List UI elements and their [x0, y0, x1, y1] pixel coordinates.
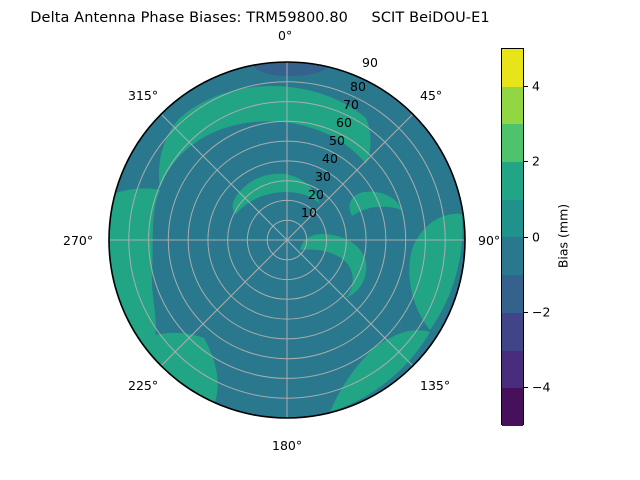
colorbar-tick-label: 0	[532, 229, 540, 244]
angle-tick-45: 45°	[420, 88, 442, 103]
colorbar-band	[502, 87, 523, 125]
angle-tick-135: 135°	[420, 378, 450, 393]
colorbar-band	[502, 237, 523, 275]
radial-tick-70: 70	[343, 97, 359, 112]
colorbar-tick-mark	[524, 387, 528, 388]
contour-fill-group	[105, 60, 465, 420]
colorbar-tick-label: 2	[532, 154, 540, 169]
colorbar-tick-mark	[524, 237, 528, 238]
angle-tick-315: 315°	[128, 88, 158, 103]
colorbar-tick-mark	[524, 86, 528, 87]
angle-tick-225: 225°	[128, 378, 158, 393]
colorbar-axis-label: Bias (mm)	[556, 204, 571, 268]
colorbar-gradient	[501, 48, 524, 425]
angle-tick-180: 180°	[272, 438, 302, 453]
colorbar-band	[502, 275, 523, 313]
colorbar-band	[502, 49, 523, 87]
colorbar-band	[502, 162, 523, 200]
colorbar-band	[502, 200, 523, 238]
radial-tick-50: 50	[329, 133, 345, 148]
colorbar-tick-label: −4	[532, 380, 550, 395]
colorbar-tick-label: −2	[532, 304, 550, 319]
colorbar-band	[502, 351, 523, 389]
colorbar: 420−2−4 Bias (mm)	[501, 48, 631, 428]
colorbar-tick-mark	[524, 312, 528, 313]
angle-tick-270: 270°	[63, 233, 93, 248]
figure-canvas: Delta Antenna Phase Biases: TRM59800.80 …	[0, 0, 640, 480]
colorbar-band	[502, 313, 523, 351]
colorbar-band	[502, 124, 523, 162]
radial-tick-80: 80	[350, 79, 366, 94]
radial-tick-90: 90	[362, 55, 378, 70]
angle-tick-0: 0°	[278, 28, 292, 43]
radial-tick-10: 10	[301, 205, 317, 220]
radial-tick-60: 60	[336, 115, 352, 130]
colorbar-tick-mark	[524, 161, 528, 162]
radial-tick-30: 30	[315, 169, 331, 184]
colorbar-tick-label: 4	[532, 78, 540, 93]
angle-tick-90: 90°	[478, 233, 500, 248]
colorbar-band	[502, 388, 523, 426]
radial-tick-20: 20	[308, 187, 324, 202]
radial-tick-40: 40	[322, 151, 338, 166]
polar-grid	[109, 62, 465, 418]
